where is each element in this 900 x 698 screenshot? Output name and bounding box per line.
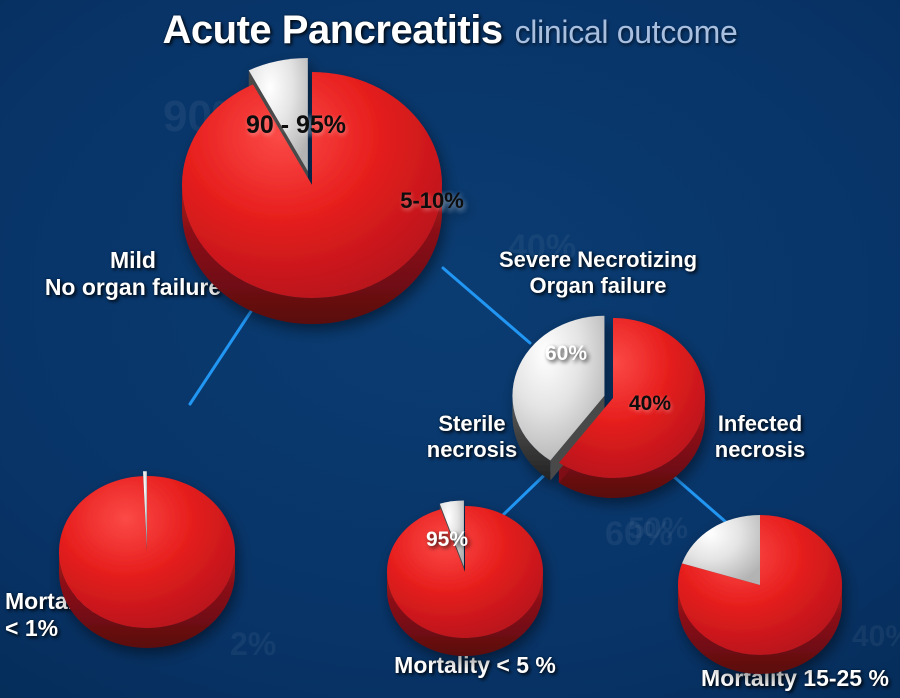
sterile-mortality-pie[interactable]: 95% [387,500,543,656]
pie-value-label: 40% [629,392,671,415]
pie-slice-red[interactable] [182,72,442,298]
pie-slice-red[interactable] [387,506,543,638]
pie-value-label: 60% [545,342,587,365]
infographic-canvas: Acute Pancreatitisclinical outcome 90%40… [0,0,900,698]
pie-value-label: 95% [426,528,468,551]
pie-value-label: 90 - 95% [246,111,346,139]
mild-mortality-pie[interactable] [59,471,235,648]
pie-chart-layer: 90 - 95%5-10%60%40%95% [0,0,900,698]
pie-value-label: 5-10% [400,188,464,213]
necrosis-split-pie[interactable]: 60%40% [512,316,705,498]
pie-slice-red[interactable] [59,476,235,628]
infected-mortality-pie[interactable] [678,515,842,674]
top-outcome-pie[interactable]: 90 - 95%5-10% [182,58,464,324]
